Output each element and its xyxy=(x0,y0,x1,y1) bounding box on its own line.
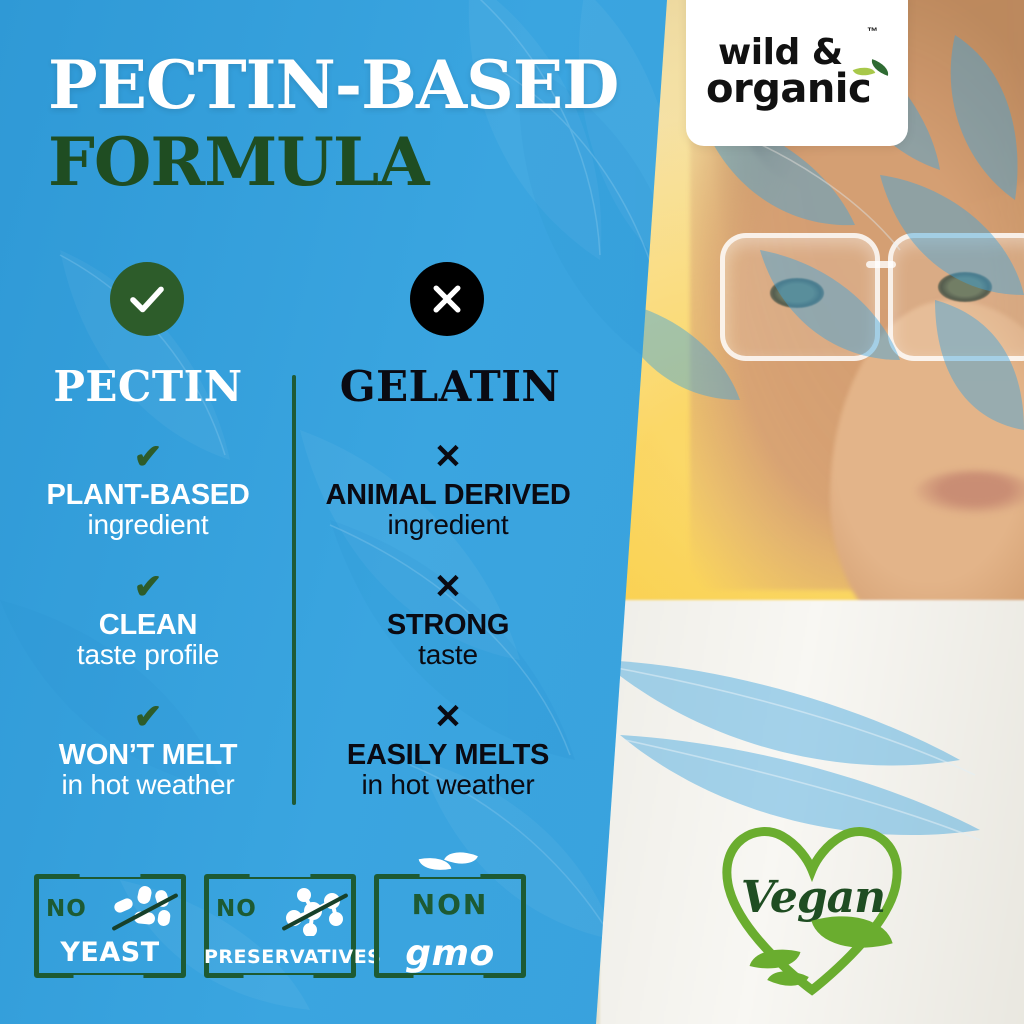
check-glyph xyxy=(126,278,168,320)
cross-icon: ✕ xyxy=(312,440,584,474)
row-cell-gelatin: ✕ ANIMAL DERIVED ingredient xyxy=(312,440,584,541)
check-icon: ✔ xyxy=(12,440,284,474)
cross-circle-icon xyxy=(410,262,484,336)
comparison-row: ✔ CLEAN taste profile ✕ STRONG taste xyxy=(0,570,596,700)
feature-title: CLEAN xyxy=(12,610,284,640)
badge-no-yeast: NO YEAST xyxy=(34,874,186,978)
trademark-symbol: ™ xyxy=(867,26,878,38)
logo-line-1: wild & xyxy=(718,36,892,71)
badge-no-preservatives: NO xyxy=(204,874,356,978)
feature-subtitle: ingredient xyxy=(12,510,284,540)
badge-label: YEAST xyxy=(34,937,186,968)
leaf-sprout-icon xyxy=(420,848,480,876)
vegan-label: Vegan xyxy=(738,872,888,923)
column-title-pectin: PECTIN xyxy=(28,362,268,411)
feature-title: ANIMAL DERIVED xyxy=(312,480,584,510)
headline-line-1: PECTIN-BASED xyxy=(48,52,648,119)
badge-prefix: NO xyxy=(216,896,257,922)
feature-title: WON’T MELT xyxy=(12,740,284,770)
row-cell-gelatin: ✕ STRONG taste xyxy=(312,570,584,671)
headline-line-2: FORMULA xyxy=(48,129,648,196)
feature-subtitle: in hot weather xyxy=(12,770,284,800)
page-title: PECTIN-BASED FORMULA xyxy=(48,52,648,197)
badge-label: PRESERVATIVES xyxy=(204,946,356,968)
badge-prefix: NON xyxy=(374,888,526,921)
column-title-gelatin: GELATIN xyxy=(330,362,570,411)
infographic-canvas: PECTIN-BASED FORMULA wild & organic ™ PE… xyxy=(0,0,1024,1024)
brand-logo: wild & organic ™ xyxy=(702,22,892,109)
feature-title: STRONG xyxy=(312,610,584,640)
feature-subtitle: taste profile xyxy=(12,640,284,670)
check-icon: ✔ xyxy=(12,700,284,734)
cross-glyph xyxy=(427,279,467,319)
row-cell-gelatin: ✕ EASILY MELTS in hot weather xyxy=(312,700,584,801)
feature-title: PLANT-BASED xyxy=(12,480,284,510)
comparison-rows: ✔ PLANT-BASED ingredient ✕ ANIMAL DERIVE… xyxy=(0,440,596,830)
feature-subtitle: ingredient xyxy=(312,510,584,540)
badge-label: gmo xyxy=(374,933,526,974)
certification-badges: NO YEAST NO xyxy=(34,874,544,984)
badge-non-gmo: NON gmo xyxy=(374,874,526,978)
comparison-titles: PECTIN GELATIN xyxy=(0,362,596,418)
molecule-crossed-icon xyxy=(280,886,346,936)
check-circle-icon xyxy=(110,262,184,336)
comparison-row: ✔ PLANT-BASED ingredient ✕ ANIMAL DERIVE… xyxy=(0,440,596,570)
brand-logo-card[interactable]: wild & organic ™ xyxy=(686,0,908,146)
cross-icon: ✕ xyxy=(312,700,584,734)
row-cell-pectin: ✔ PLANT-BASED ingredient xyxy=(12,440,284,541)
feature-subtitle: taste xyxy=(312,640,584,670)
yeast-cells-crossed-icon xyxy=(110,886,176,936)
row-cell-pectin: ✔ CLEAN taste profile xyxy=(12,570,284,671)
comparison-icons xyxy=(0,262,596,342)
check-icon: ✔ xyxy=(12,570,284,604)
logo-line-2: organic xyxy=(706,70,892,108)
comparison-row: ✔ WON’T MELT in hot weather ✕ EASILY MEL… xyxy=(0,700,596,830)
badge-prefix: NO xyxy=(46,896,87,922)
row-cell-pectin: ✔ WON’T MELT in hot weather xyxy=(12,700,284,801)
feature-title: EASILY MELTS xyxy=(312,740,584,770)
vegan-seal: Vegan xyxy=(712,818,912,1004)
cross-icon: ✕ xyxy=(312,570,584,604)
feature-subtitle: in hot weather xyxy=(312,770,584,800)
